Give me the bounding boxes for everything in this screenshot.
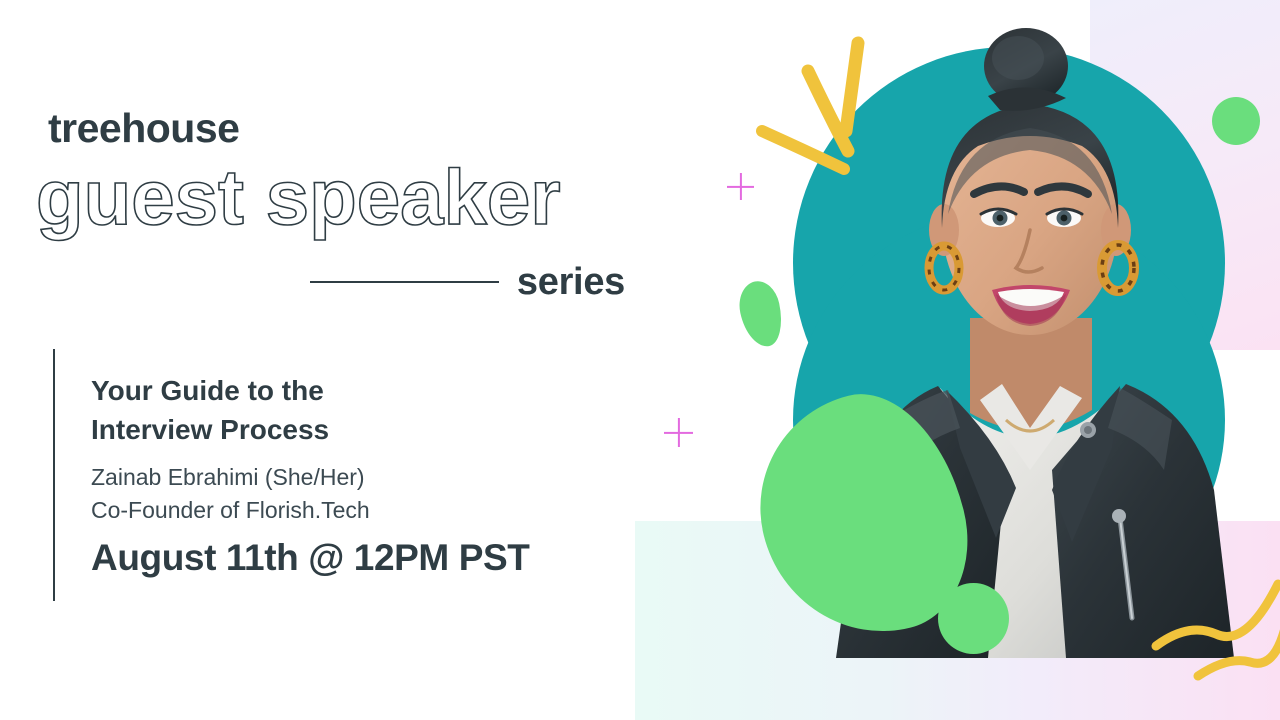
brand-logo-text: treehouse [48, 108, 239, 149]
slide-canvas: treehouse guest speaker series Your Guid… [0, 0, 1280, 720]
session-title-line-1: Your Guide to the [91, 371, 521, 410]
session-title: Your Guide to the Interview Process [91, 371, 521, 449]
session-title-line-2: Interview Process [91, 410, 521, 449]
vertical-divider-rule [53, 349, 55, 601]
series-label: series [517, 263, 625, 301]
speaker-role: Co-Founder of Florish.Tech [91, 495, 370, 526]
series-divider-rule [310, 281, 499, 283]
plus-cross-icon-middle [664, 418, 693, 447]
plus-cross-icon-top [727, 173, 754, 200]
green-blob-small-icon [735, 278, 788, 351]
green-circle-bottom-icon [938, 583, 1009, 654]
session-datetime: August 11th @ 12PM PST [91, 536, 529, 580]
series-row: series [310, 258, 625, 306]
headline-outline: guest speaker [36, 158, 561, 236]
speaker-name: Zainab Ebrahimi (She/Her) [91, 462, 365, 493]
